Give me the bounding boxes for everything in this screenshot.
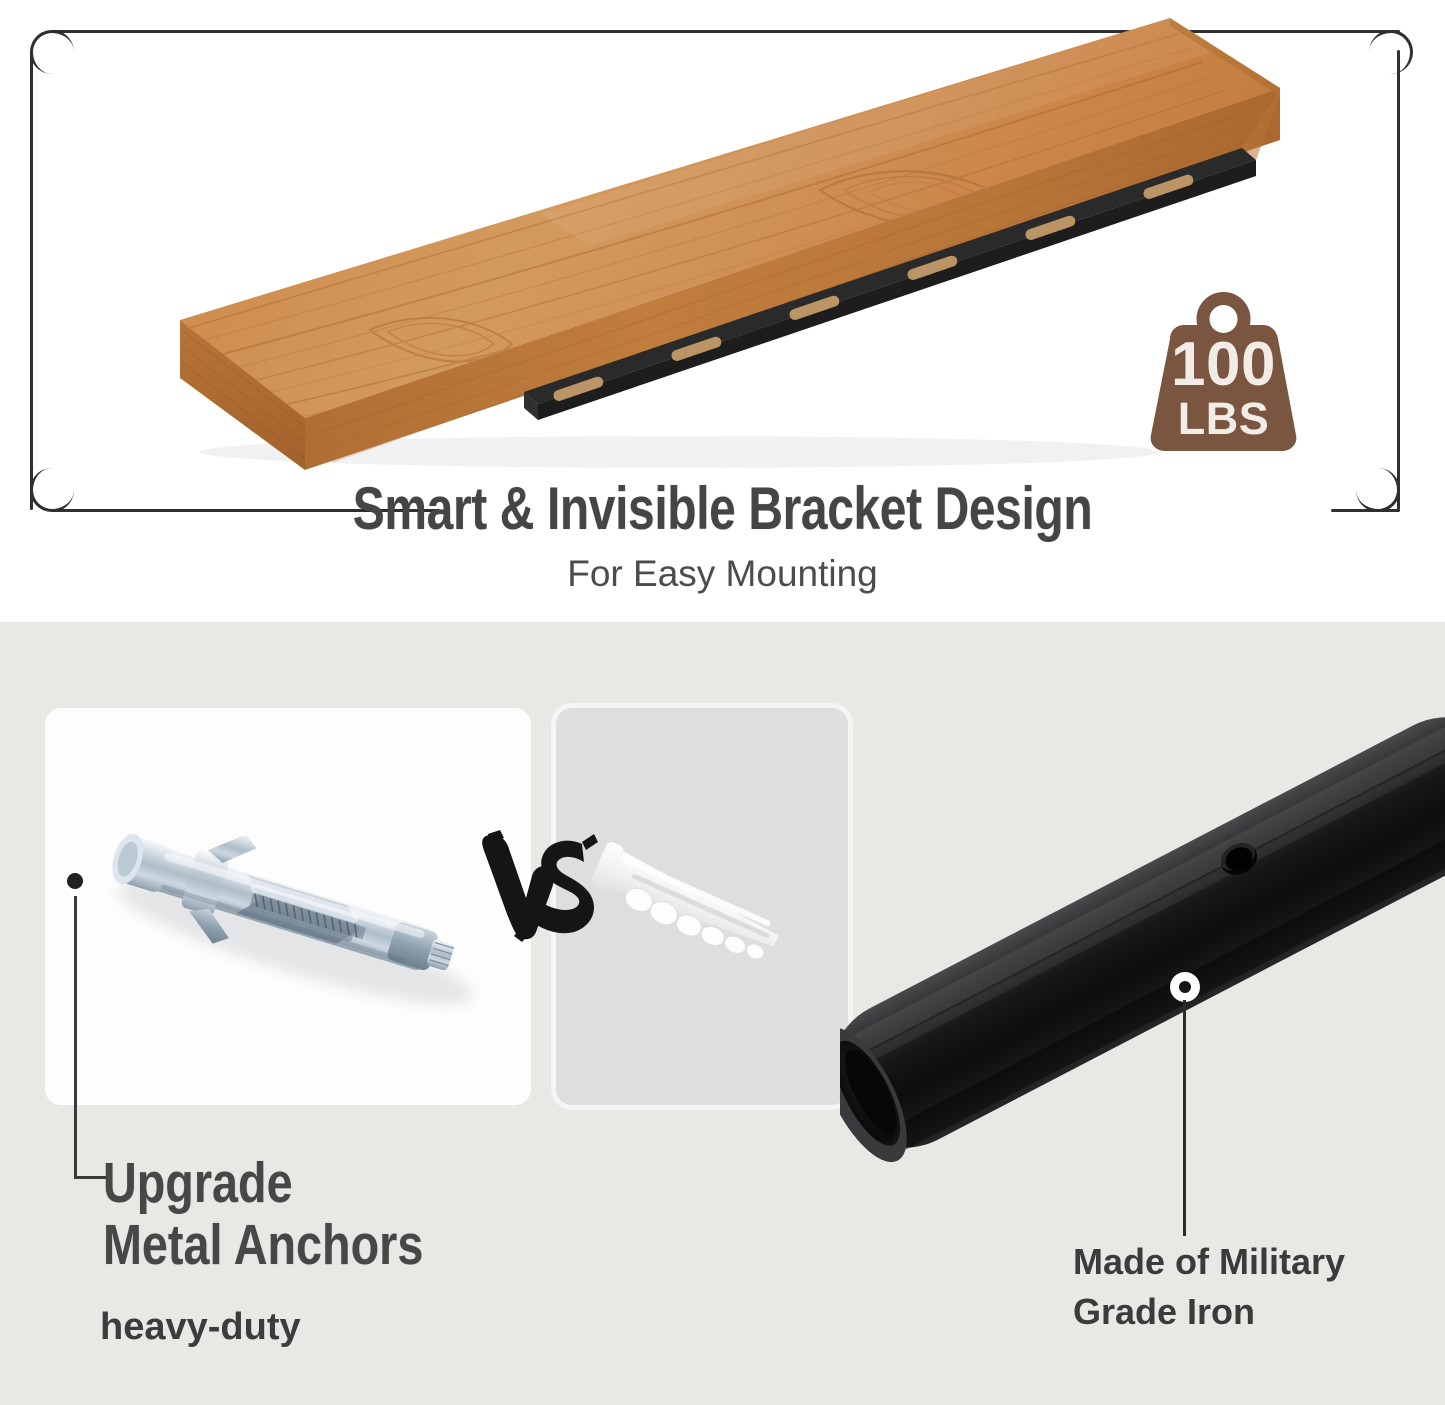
hero-panel: 100 LBS Smart & Invisible Bracket Design… bbox=[0, 0, 1445, 622]
frame-border-left bbox=[30, 50, 33, 510]
iron-pipe-illustration bbox=[840, 700, 1445, 1260]
hero-title: Smart & Invisible Bracket Design bbox=[145, 477, 1301, 541]
metal-anchor-image bbox=[45, 708, 531, 1105]
weight-badge-text: 100 LBS bbox=[1136, 335, 1311, 440]
frame-border-right bbox=[1397, 50, 1400, 510]
vs-icon bbox=[470, 820, 600, 960]
pipe-caption-line2: Grade Iron bbox=[1073, 1287, 1403, 1337]
weight-value: 100 bbox=[1136, 335, 1311, 395]
hero-subtitle: For Easy Mounting bbox=[0, 553, 1445, 595]
anchors-title: Upgrade Metal Anchors bbox=[103, 1152, 562, 1276]
metal-anchor-callout-line-vertical bbox=[74, 896, 77, 1179]
frame-border-bottom-right bbox=[1331, 509, 1400, 512]
iron-pipe-image bbox=[840, 700, 1445, 1260]
weight-capacity-badge: 100 LBS bbox=[1136, 283, 1311, 453]
frame-corner-top-right bbox=[1369, 30, 1413, 74]
anchors-subtitle: heavy-duty bbox=[100, 1306, 600, 1349]
pipe-caption-line1: Made of Military bbox=[1073, 1237, 1403, 1287]
anchors-title-line2: Metal Anchors bbox=[103, 1214, 562, 1276]
vs-brush-glyph bbox=[470, 820, 600, 960]
frame-corner-bottom-right bbox=[1356, 468, 1400, 512]
pipe-callout-ring bbox=[1170, 972, 1200, 1002]
anchors-title-line1: Upgrade bbox=[103, 1152, 562, 1214]
pipe-caption: Made of Military Grade Iron bbox=[1073, 1237, 1403, 1337]
metal-anchor-callout-dot bbox=[60, 866, 90, 896]
frame-border-top bbox=[50, 30, 1400, 33]
metal-anchor-card bbox=[45, 708, 531, 1105]
frame-corner-top-left bbox=[30, 30, 74, 74]
frame-corner-bottom-left bbox=[30, 468, 74, 512]
pipe-callout-line bbox=[1183, 1000, 1186, 1236]
weight-unit: LBS bbox=[1136, 397, 1311, 440]
